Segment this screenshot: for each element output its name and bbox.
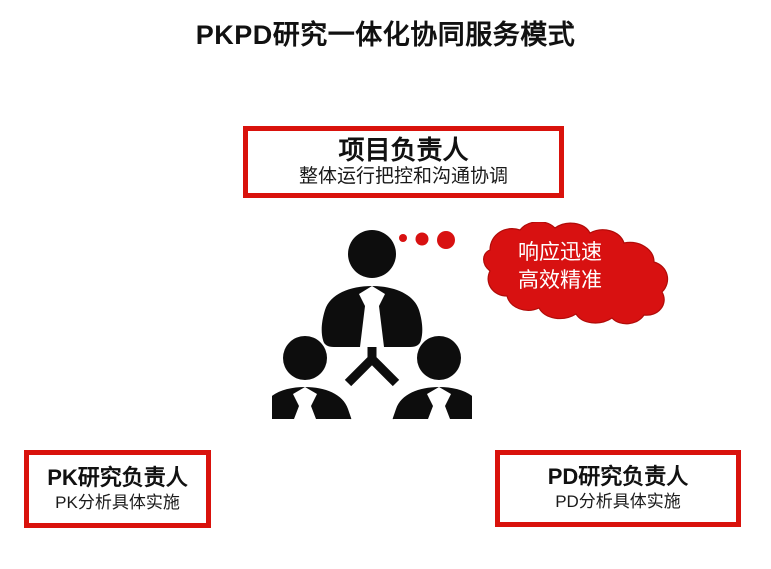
role-box-project-lead-title: 项目负责人 (338, 136, 468, 165)
role-box-project-lead-subtitle: 整体运行把控和沟通协调 (299, 167, 508, 188)
cloud-shape-icon (484, 222, 668, 324)
role-box-project-lead[interactable]: 项目负责人 整体运行把控和沟通协调 (243, 126, 564, 198)
slide-canvas: PKPD研究一体化协同服务模式 项目负责人 整体运行把控和沟通协调 (0, 0, 771, 569)
role-box-pd-subtitle: PD分析具体实施 (555, 493, 681, 512)
thought-cloud-callout (398, 222, 683, 326)
role-box-pk[interactable]: PK研究负责人 PK分析具体实施 (24, 450, 211, 528)
thought-bubble-dots-icon (399, 231, 455, 249)
role-box-pd[interactable]: PD研究负责人 PD分析具体实施 (495, 450, 741, 527)
role-box-pk-subtitle: PK分析具体实施 (55, 494, 180, 513)
page-title: PKPD研究一体化协同服务模式 (0, 20, 771, 51)
role-box-pd-title: PD研究负责人 (548, 465, 689, 489)
person-figure-bottom-right (393, 336, 472, 419)
person-figure-bottom-left (272, 336, 351, 419)
role-box-pk-title: PK研究负责人 (47, 466, 188, 490)
